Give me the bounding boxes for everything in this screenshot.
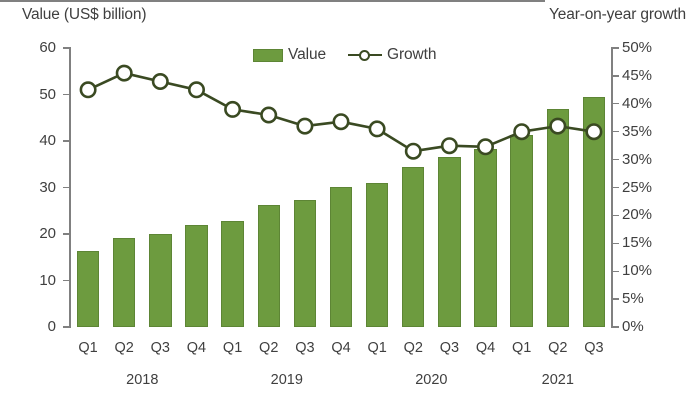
growth-data-point bbox=[406, 144, 420, 158]
x-axis-quarter-label: Q3 bbox=[431, 340, 467, 356]
x-axis-quarter-label: Q3 bbox=[287, 340, 323, 356]
legend-label-value: Value bbox=[288, 46, 326, 64]
growth-data-point bbox=[334, 115, 348, 129]
x-axis-year-label: 2019 bbox=[215, 372, 360, 388]
x-axis-quarter-label: Q2 bbox=[540, 340, 576, 356]
x-axis-quarter-label: Q4 bbox=[178, 340, 214, 356]
growth-data-point bbox=[587, 125, 601, 139]
x-axis-quarter-label: Q2 bbox=[395, 340, 431, 356]
growth-data-point bbox=[225, 102, 239, 116]
x-axis-quarter-label: Q4 bbox=[323, 340, 359, 356]
x-axis-quarter-label: Q2 bbox=[251, 340, 287, 356]
x-axis-year-label: 2021 bbox=[504, 372, 612, 388]
growth-data-point bbox=[478, 140, 492, 154]
growth-data-point bbox=[81, 83, 95, 97]
growth-data-point bbox=[298, 119, 312, 133]
x-axis-quarter-label: Q4 bbox=[467, 340, 503, 356]
growth-data-point bbox=[370, 122, 384, 136]
x-axis-quarter-label: Q1 bbox=[504, 340, 540, 356]
chart-container: Value (US$ billion) Year-on-year growth … bbox=[0, 0, 694, 408]
growth-data-point bbox=[262, 108, 276, 122]
legend-swatch-value-icon bbox=[253, 49, 283, 62]
x-axis-quarter-label: Q1 bbox=[215, 340, 251, 356]
x-axis-quarter-label: Q3 bbox=[576, 340, 612, 356]
legend-label-growth: Growth bbox=[387, 46, 436, 64]
x-axis-year-label: 2020 bbox=[359, 372, 504, 388]
x-axis-year-label: 2018 bbox=[70, 372, 215, 388]
growth-data-point bbox=[442, 139, 456, 153]
growth-data-point bbox=[117, 66, 131, 80]
chart-legend: Value Growth bbox=[253, 46, 436, 64]
legend-line-growth-icon bbox=[348, 48, 382, 62]
legend-item-growth[interactable]: Growth bbox=[348, 46, 436, 64]
legend-item-value[interactable]: Value bbox=[253, 46, 326, 64]
x-axis-quarter-label: Q2 bbox=[106, 340, 142, 356]
growth-data-point bbox=[153, 74, 167, 88]
growth-data-point bbox=[189, 83, 203, 97]
growth-data-point bbox=[515, 125, 529, 139]
x-axis-quarter-label: Q1 bbox=[70, 340, 106, 356]
x-axis-quarter-label: Q1 bbox=[359, 340, 395, 356]
growth-data-point bbox=[551, 119, 565, 133]
x-axis-quarter-label: Q3 bbox=[142, 340, 178, 356]
